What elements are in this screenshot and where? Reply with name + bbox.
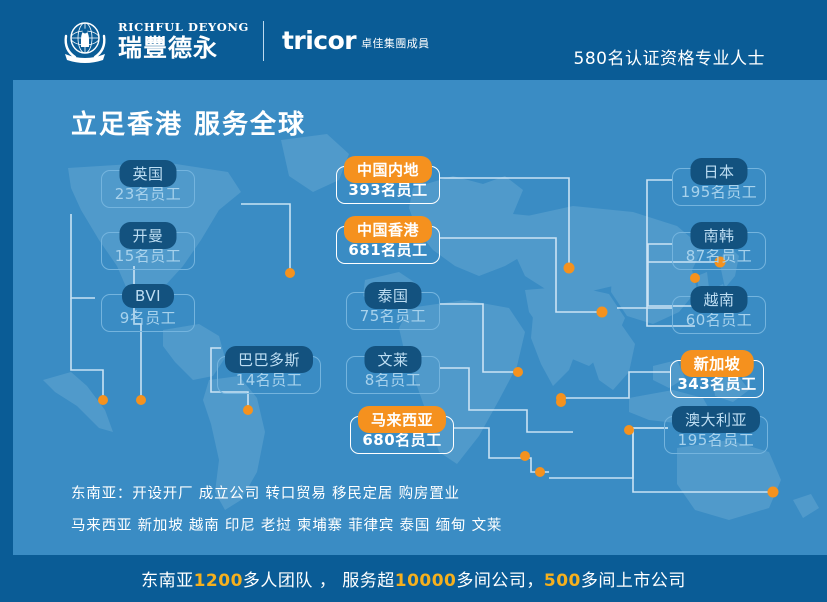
dot-brunei <box>624 425 634 435</box>
dot-malaysia <box>520 451 530 461</box>
footer-number-listed: 500 <box>544 571 581 591</box>
location-name: 马来西亚 <box>358 406 446 433</box>
footer-part-2: 多人团队 ， 服务超 <box>243 571 395 591</box>
logo-chinese-name: 瑞豐德永 <box>118 36 249 60</box>
location-name: 新加坡 <box>681 350 754 377</box>
tricor-member-label: 卓佳集團成員 <box>361 35 429 55</box>
note-line-services: 东南亚：开设开厂 成立公司 转口贸易 移民定居 购房置业 <box>71 482 502 503</box>
footer-number-team: 1200 <box>194 571 243 591</box>
location-name: 英国 <box>119 160 176 187</box>
location-name: 泰国 <box>364 282 421 309</box>
footer-part-1: 东南亚 <box>141 571 194 591</box>
page-footer: 东南亚1200多人团队 ， 服务超10000多间公司，500多间上市公司 <box>0 555 827 602</box>
brand-logo[interactable]: RICHFUL DEYONG 瑞豐德永 tricor 卓佳集團成員 <box>60 18 430 64</box>
logo-wordmark: RICHFUL DEYONG 瑞豐德永 <box>118 22 249 61</box>
footer-summary: 东南亚1200多人团队 ， 服务超10000多间公司，500多间上市公司 <box>141 566 686 591</box>
main-panel: 立足香港 服务全球 <box>13 80 827 555</box>
dot-bvi <box>136 395 146 405</box>
tricor-logo: tricor 卓佳集團成員 <box>282 26 430 57</box>
dot-china-mainland <box>564 263 575 274</box>
location-name: 日本 <box>690 158 747 185</box>
note-line-countries: 马来西亚 新加坡 越南 印尼 老挝 柬埔寨 菲律宾 泰国 缅甸 文莱 <box>71 514 502 535</box>
tricor-wordmark: tricor <box>282 26 356 55</box>
location-name: 开曼 <box>119 222 176 249</box>
location-name: 中国香港 <box>344 216 432 243</box>
page-header: RICHFUL DEYONG 瑞豐德永 tricor 卓佳集團成員 580名认证… <box>0 0 827 80</box>
location-name: 中国内地 <box>344 156 432 183</box>
location-name: BVI <box>122 284 174 308</box>
dot-vietnam <box>556 397 566 407</box>
logo-english-name: RICHFUL DEYONG <box>118 22 249 34</box>
dot-barbados <box>243 405 253 415</box>
footer-part-4: 多间上市公司 <box>581 571 686 591</box>
location-name: 巴巴多斯 <box>225 346 313 373</box>
employee-count: 9名员工 <box>120 307 177 328</box>
crest-emblem-icon <box>60 18 110 64</box>
dot-uk <box>285 268 295 278</box>
notes-block: 东南亚：开设开厂 成立公司 转口贸易 移民定居 购房置业 马来西亚 新加坡 越南… <box>71 482 502 546</box>
footer-part-3: 多间公司， <box>456 571 544 591</box>
location-name: 越南 <box>690 286 747 313</box>
logo-divider <box>263 21 264 61</box>
footer-number-companies: 10000 <box>395 571 457 591</box>
header-tagline: 580名认证资格专业人士 <box>574 44 765 69</box>
dot-australia <box>768 487 779 498</box>
dot-malaysia-2 <box>535 467 545 477</box>
location-name: 文莱 <box>364 346 421 373</box>
dot-hongkong <box>597 307 608 318</box>
dot-korea <box>690 273 700 283</box>
location-name: 澳大利亚 <box>672 406 760 433</box>
location-name: 南韩 <box>690 222 747 249</box>
dot-thailand <box>513 367 523 377</box>
dot-cayman <box>98 395 108 405</box>
